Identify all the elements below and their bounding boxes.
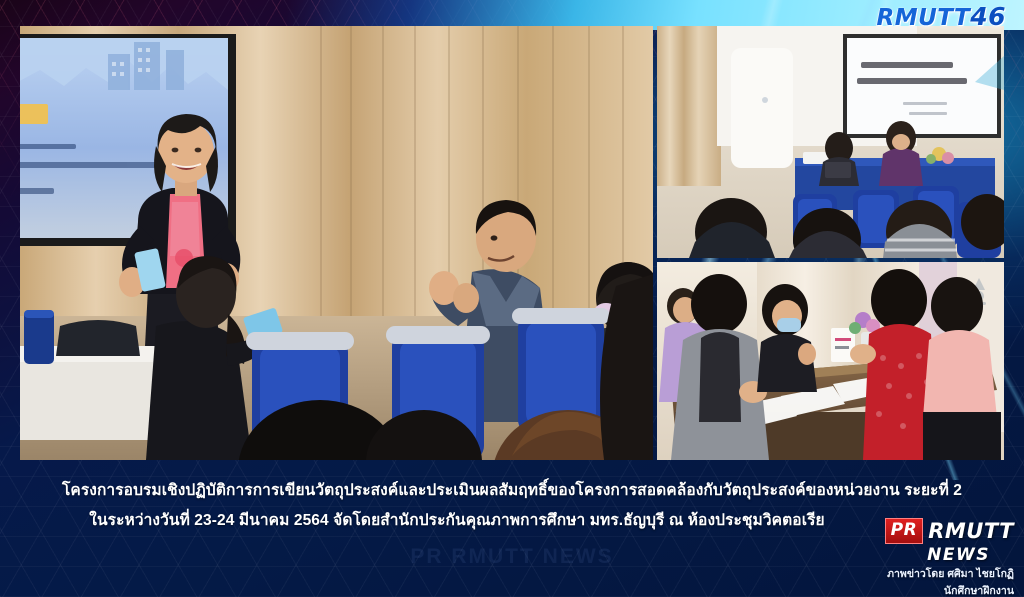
caption-line-1: โครงการอบรมเชิงปฏิบัติการการเขียนวัตถุปร… [0, 476, 1024, 506]
pr-rmutt-wordmark-row: PR RMUTT [844, 518, 1014, 544]
pr-rmutt-wordmark: RMUTT [928, 521, 1014, 542]
pr-rmutt-news-logo: PR RMUTT NEWS ภาพข่าวโดย ศศิมา ไชยโกฏิ น… [844, 518, 1014, 597]
rmutt46-logo-number: 46 [970, 2, 1006, 31]
registration-desk-photo [657, 262, 1004, 460]
photo-credit-line-1: ภาพข่าวโดย ศศิมา ไชยโกฏิ [844, 567, 1014, 582]
pr-news-wordmark: NEWS [844, 545, 990, 565]
photo-credit-line-2: นักศึกษาฝึกงาน [844, 584, 1014, 597]
news-graphic: RMUTT46 โครงการอบรมเชิงปฏิบัติการการเขีย… [0, 0, 1024, 597]
rmutt46-logo-text: RMUTT [877, 5, 971, 31]
photo-collage [20, 26, 1004, 460]
main-seminar-photo [20, 26, 653, 460]
pr-badge: PR [885, 518, 924, 544]
rmutt46-logo: RMUTT46 [877, 2, 1006, 31]
presentation-room-photo [657, 26, 1004, 258]
